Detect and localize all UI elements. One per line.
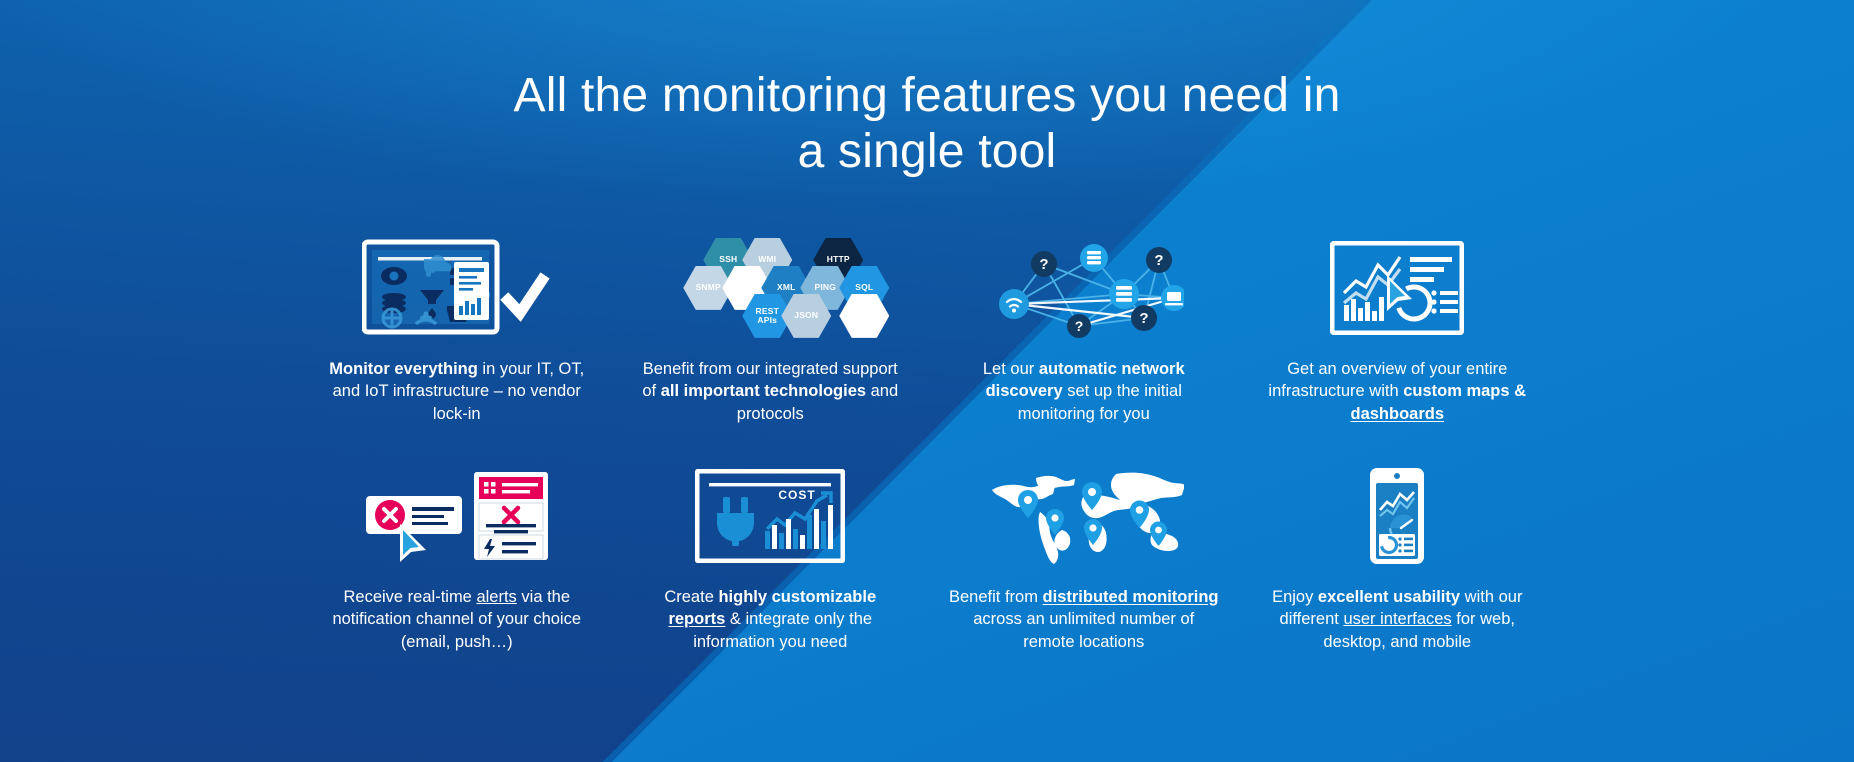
headline-line-1: All the monitoring features you need in [514, 69, 1341, 122]
caption-normal-part: Benefit from [949, 588, 1043, 606]
svg-text:COST: COST [779, 488, 816, 502]
monitor-devices-check-icon [362, 236, 552, 340]
feature-caption: Benefit from distributed monitoring acro… [948, 586, 1220, 654]
svg-text:?: ? [1154, 252, 1163, 269]
alert-notification-icon [362, 464, 552, 568]
feature-grid: Monitor everything in your IT, OT, and I… [0, 236, 1854, 654]
feature-card-network-discovery: ? ? ? ? [927, 236, 1241, 426]
feature-card-customizable-reports: COST [614, 464, 928, 654]
dashboard-charts-icon [1330, 236, 1464, 340]
feature-overview-section: All the monitoring features you need in … [0, 0, 1854, 762]
feature-card-distributed-monitoring: Benefit from distributed monitoring acro… [927, 464, 1241, 654]
alerts-link[interactable]: alerts [476, 588, 516, 606]
caption-normal-part: Create [664, 588, 718, 606]
feature-card-excellent-usability: Enjoy excellent usability with our diffe… [1241, 464, 1555, 654]
feature-caption: Benefit from our integrated support of a… [634, 358, 906, 426]
feature-caption: Enjoy excellent usability with our diffe… [1261, 586, 1533, 654]
world-map-pins-icon [984, 464, 1184, 568]
feature-card-technologies-protocols: SSH WMI HTTP SNMP XML PING SQL REST APIs… [614, 236, 928, 426]
caption-normal-part: Let our [983, 360, 1039, 378]
dashboards-link[interactable]: dashboards [1350, 405, 1444, 423]
caption-normal-part: Receive real-time [343, 588, 476, 606]
page-title: All the monitoring features you need in … [0, 68, 1854, 179]
caption-bold-part: Monitor everything [329, 360, 478, 378]
distributed-monitoring-link[interactable]: distributed monitoring [1043, 588, 1219, 606]
caption-bold-part: highly customizable [718, 588, 876, 606]
caption-normal-part: Enjoy [1272, 588, 1318, 606]
protocol-hexagons-icon: SSH WMI HTTP SNMP XML PING SQL REST APIs… [677, 236, 863, 340]
svg-text:?: ? [1139, 310, 1148, 327]
cost-report-chart-icon: COST [695, 464, 845, 568]
feature-card-realtime-alerts: Receive real-time alerts via the notific… [300, 464, 614, 654]
caption-bold-part: custom maps & [1403, 382, 1526, 400]
mobile-dashboard-icon [1362, 464, 1432, 568]
caption-bold-part: all important technologies [661, 382, 866, 400]
feature-caption: Create highly customizable reports & int… [634, 586, 906, 654]
reports-link[interactable]: reports [668, 610, 725, 628]
feature-card-maps-dashboards: Get an overview of your entire infrastru… [1241, 236, 1555, 426]
svg-text:?: ? [1039, 256, 1048, 273]
feature-caption: Let our automatic network discovery set … [948, 358, 1220, 426]
feature-caption: Monitor everything in your IT, OT, and I… [321, 358, 593, 426]
caption-normal-part-2: across an unlimited number of remote loc… [973, 610, 1194, 651]
network-topology-icon: ? ? ? ? [984, 236, 1184, 340]
feature-card-monitor-everything: Monitor everything in your IT, OT, and I… [300, 236, 614, 426]
svg-text:?: ? [1074, 318, 1083, 334]
caption-bold-part: excellent usability [1318, 588, 1460, 606]
headline-line-2: a single tool [0, 124, 1854, 180]
feature-caption: Get an overview of your entire infrastru… [1261, 358, 1533, 426]
user-interfaces-link[interactable]: user interfaces [1343, 610, 1451, 628]
feature-caption: Receive real-time alerts via the notific… [321, 586, 593, 654]
